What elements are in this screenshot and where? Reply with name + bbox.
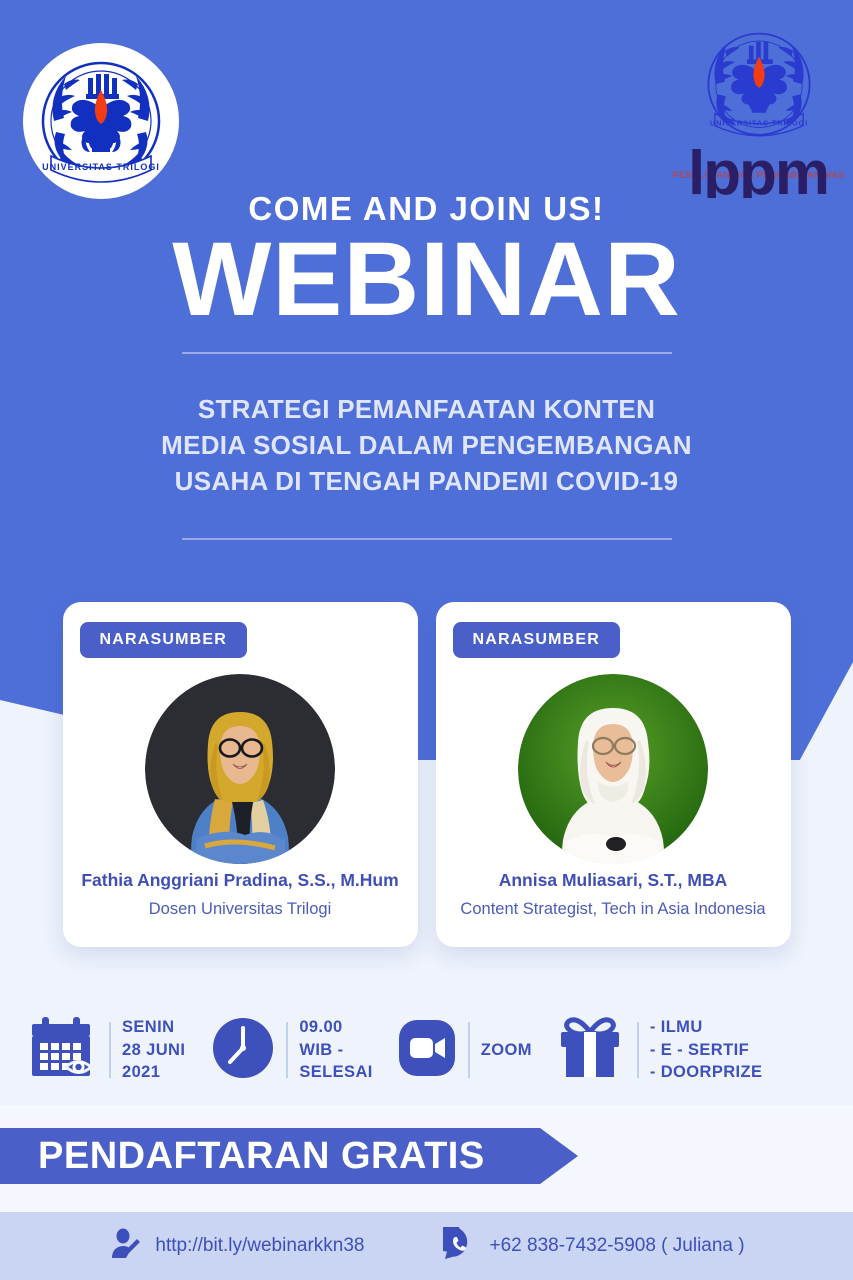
status-badge: NARASUMBER xyxy=(453,622,621,658)
register-person-icon xyxy=(108,1227,142,1266)
contact-whatsapp[interactable]: +62 838-7432-5908 ( Juliana ) xyxy=(443,1227,745,1266)
divider xyxy=(109,1022,111,1078)
gift-icon xyxy=(554,1015,626,1086)
info-item-benefits: - ILMU - E - SERTIF - DOORPRIZE xyxy=(554,1015,763,1086)
benefit-line-3: - DOORPRIZE xyxy=(650,1061,763,1084)
svg-text:UNIVERSITAS TRILOGI: UNIVERSITAS TRILOGI xyxy=(42,162,160,172)
speaker-role: Content Strategist, Tech in Asia Indones… xyxy=(436,900,791,919)
info-benefits-text: - ILMU - E - SERTIF - DOORPRIZE xyxy=(650,1016,763,1084)
svg-text:UNIVERSITAS TRILOGI: UNIVERSITAS TRILOGI xyxy=(710,119,808,128)
speaker-cards: NARASUMBER xyxy=(0,602,853,950)
speaker-card: NARASUMBER xyxy=(436,602,791,947)
date-line-3: 2021 xyxy=(122,1061,185,1084)
registration-banner-text: PENDAFTARAN GRATIS xyxy=(0,1135,485,1178)
calendar-icon xyxy=(28,1016,98,1085)
zoom-icon xyxy=(397,1018,457,1083)
avatar xyxy=(145,674,335,864)
date-line-1: SENIN xyxy=(122,1016,185,1039)
universitas-trilogi-seal-icon: UNIVERSITAS TRILOGI xyxy=(23,43,179,199)
info-item-platform: ZOOM xyxy=(397,1018,532,1083)
subtitle-line-3: USAHA DI TENGAH PANDEMI COVID-19 xyxy=(0,464,853,500)
benefit-line-1: - ILMU xyxy=(650,1016,763,1039)
subtitle-line-2: MEDIA SOSIAL DALAM PENGEMBANGAN xyxy=(0,428,853,464)
info-time-text: 09.00 WIB - SELESAI xyxy=(299,1016,372,1084)
poster-subtitle: STRATEGI PEMANFAATAN KONTEN MEDIA SOSIAL… xyxy=(0,392,853,500)
divider xyxy=(286,1022,288,1078)
whatsapp-icon xyxy=(443,1227,477,1266)
info-item-time: 09.00 WIB - SELESAI xyxy=(211,1016,372,1085)
time-line-1: 09.00 xyxy=(299,1016,372,1039)
contact-link-text: http://bit.ly/webinarkkn38 xyxy=(155,1235,364,1257)
contact-link[interactable]: http://bit.ly/webinarkkn38 xyxy=(108,1227,364,1266)
benefit-line-2: - E - SERTIF xyxy=(650,1039,763,1062)
subtitle-line-1: STRATEGI PEMANFAATAN KONTEN xyxy=(0,392,853,428)
avatar xyxy=(518,674,708,864)
registration-banner: PENDAFTARAN GRATIS xyxy=(0,1128,578,1184)
page-title: WEBINAR xyxy=(0,225,853,335)
lppm-logo-icon: UNIVERSITAS TRILOGI LEMBAGA PENELITIAN D… xyxy=(672,18,844,198)
divider xyxy=(637,1022,639,1078)
info-item-date: SENIN 28 JUNI 2021 xyxy=(28,1016,185,1085)
date-line-2: 28 JUNI xyxy=(122,1039,185,1062)
speaker-role: Dosen Universitas Trilogi xyxy=(63,900,418,919)
contact-whatsapp-text: +62 838-7432-5908 ( Juliana ) xyxy=(490,1235,745,1257)
speaker-name: Annisa Muliasari, S.T., MBA xyxy=(436,870,791,891)
info-platform-text: ZOOM xyxy=(481,1039,532,1062)
divider-top xyxy=(182,352,672,354)
divider xyxy=(468,1022,470,1078)
contact-row: http://bit.ly/webinarkkn38 +62 838-7432-… xyxy=(0,1212,853,1280)
clock-icon xyxy=(211,1016,275,1085)
time-line-2: WIB - xyxy=(299,1039,372,1062)
speaker-name: Fathia Anggriani Pradina, S.S., M.Hum xyxy=(63,870,418,891)
info-date-text: SENIN 28 JUNI 2021 xyxy=(122,1016,185,1084)
status-badge: NARASUMBER xyxy=(80,622,248,658)
event-info-bar: SENIN 28 JUNI 2021 09.00 WIB - SELESAI xyxy=(0,1000,853,1100)
divider-bottom xyxy=(182,538,672,540)
time-line-3: SELESAI xyxy=(299,1061,372,1084)
webinar-poster: UNIVERSITAS TRILOGI xyxy=(0,0,853,1280)
speaker-card: NARASUMBER xyxy=(63,602,418,947)
